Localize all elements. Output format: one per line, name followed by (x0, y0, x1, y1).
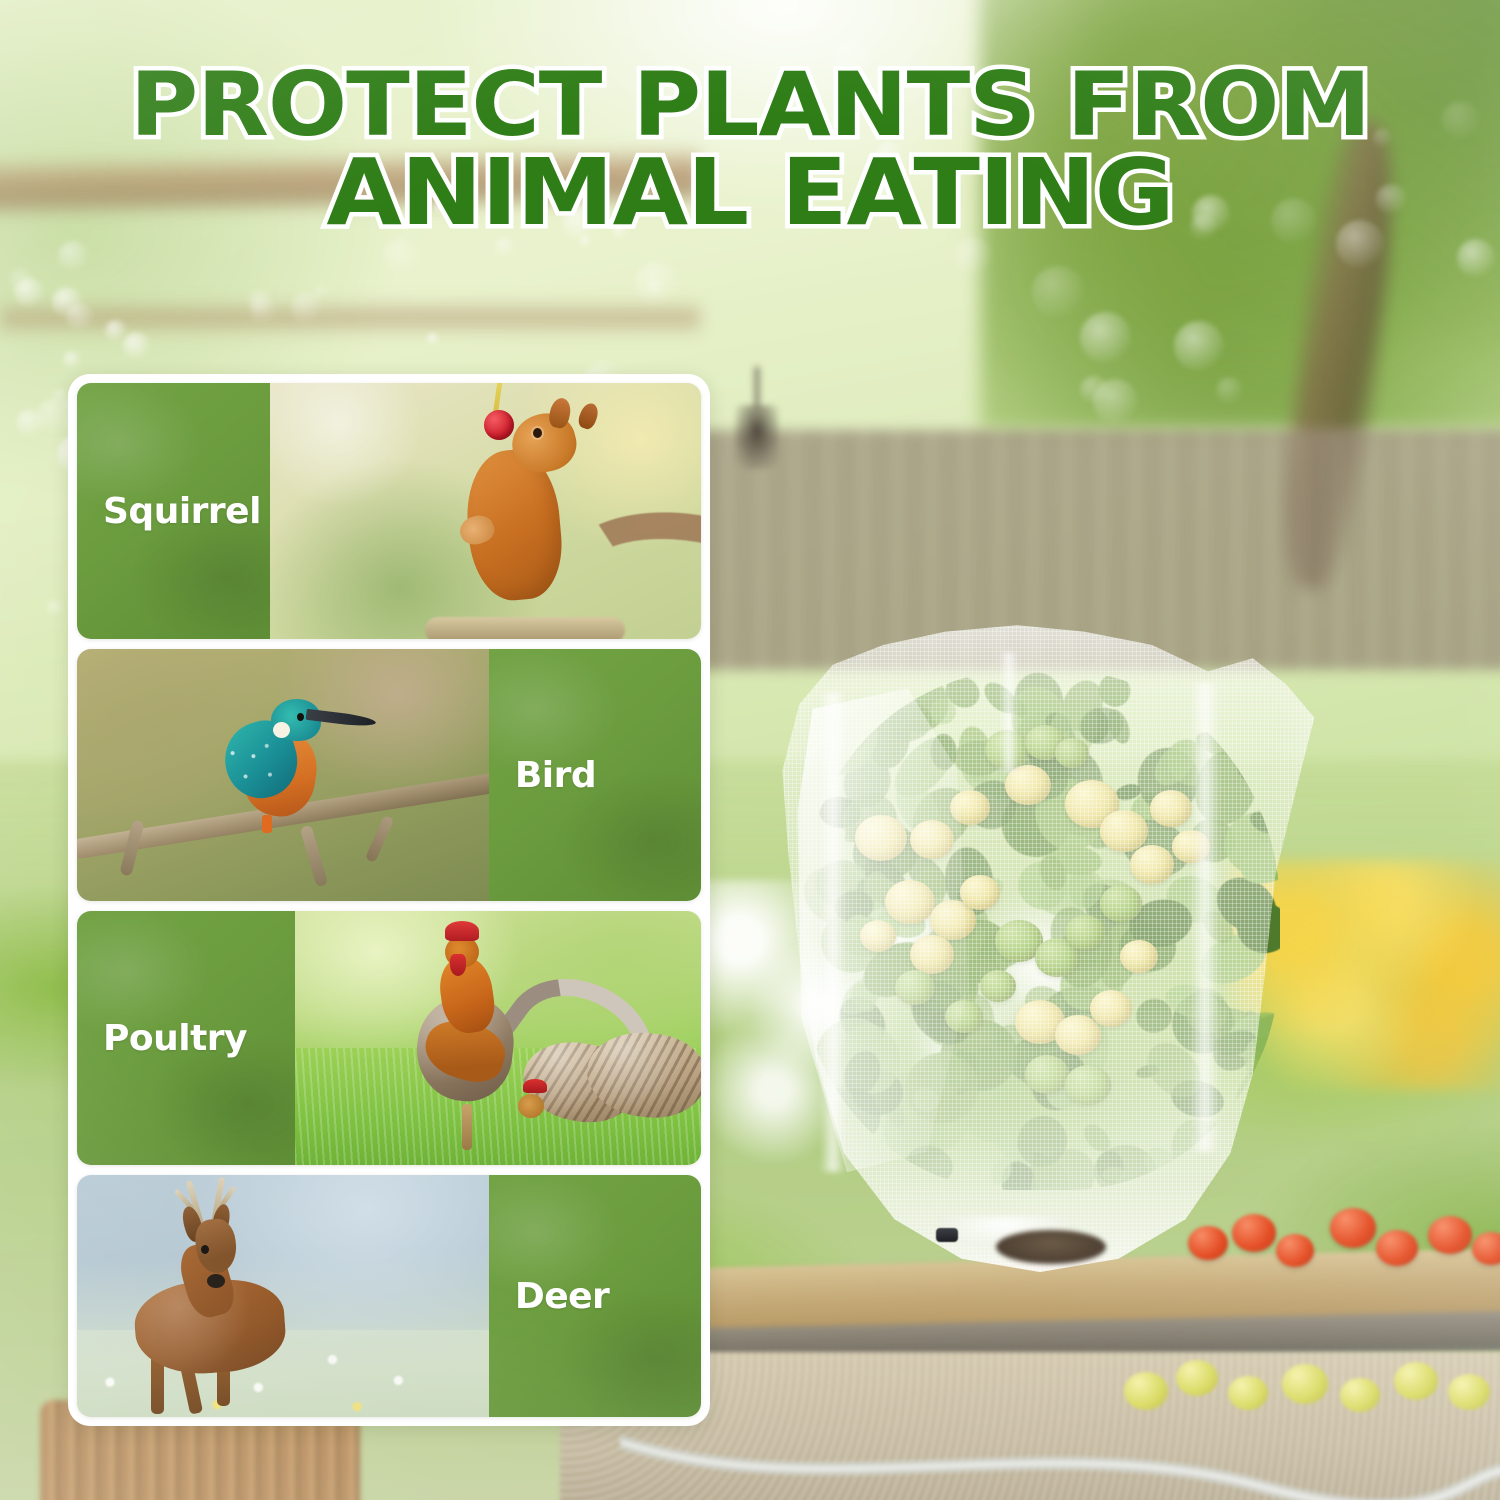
hen-comb (523, 1079, 547, 1093)
branch-twig-2 (299, 825, 328, 888)
photo-squirrel (270, 383, 701, 639)
promo-image: PROTECT PLANTS FROM ANIMAL EATING Squirr… (0, 0, 1500, 1500)
net-fold-right (1190, 682, 1220, 1152)
animal-card-deer[interactable]: Deer (77, 1175, 701, 1417)
rooster-comb (445, 921, 479, 941)
soil-mound (996, 1230, 1106, 1264)
card-label-poultry: Poultry (77, 1018, 273, 1059)
kingfisher-cheek-patch (273, 722, 290, 738)
title-line-1: PROTECT PLANTS FROM (0, 62, 1500, 148)
photo-deer (77, 1175, 489, 1417)
card-label-deer: Deer (489, 1276, 635, 1317)
deer-nose (207, 1274, 225, 1288)
squirrel-tail (541, 488, 701, 639)
kingfisher-foot (262, 815, 272, 833)
net-clip (936, 1228, 958, 1242)
deer-eye (201, 1245, 209, 1254)
page-title: PROTECT PLANTS FROM ANIMAL EATING (0, 62, 1500, 238)
raspberry (484, 410, 514, 440)
net-fold-left (820, 692, 846, 1172)
label-panel-bird: Bird (489, 649, 701, 901)
card-label-squirrel: Squirrel (77, 491, 287, 532)
branch-twig-3 (364, 815, 394, 863)
animal-card-squirrel[interactable]: Squirrel (77, 383, 701, 639)
label-panel-poultry: Poultry (77, 911, 295, 1165)
mesh-plant-cover (760, 612, 1320, 1272)
animal-card-poultry[interactable]: Poultry (77, 911, 701, 1165)
squirrel-eye (533, 428, 542, 438)
squirrel-ear-2 (577, 401, 602, 431)
animal-card-stack: Squirrel (68, 374, 710, 1426)
photo-bird (77, 649, 489, 901)
rooster-leg (462, 1104, 472, 1150)
card-label-bird: Bird (489, 755, 622, 796)
photo-poultry (295, 911, 701, 1165)
net-fold-top (1000, 652, 1018, 772)
label-panel-squirrel: Squirrel (77, 383, 270, 639)
garden-hose (620, 1398, 1500, 1500)
label-panel-deer: Deer (489, 1175, 701, 1417)
animal-card-bird[interactable]: Bird (77, 649, 701, 901)
title-line-2: ANIMAL EATING (0, 148, 1500, 238)
rooster-wattle (450, 954, 466, 976)
